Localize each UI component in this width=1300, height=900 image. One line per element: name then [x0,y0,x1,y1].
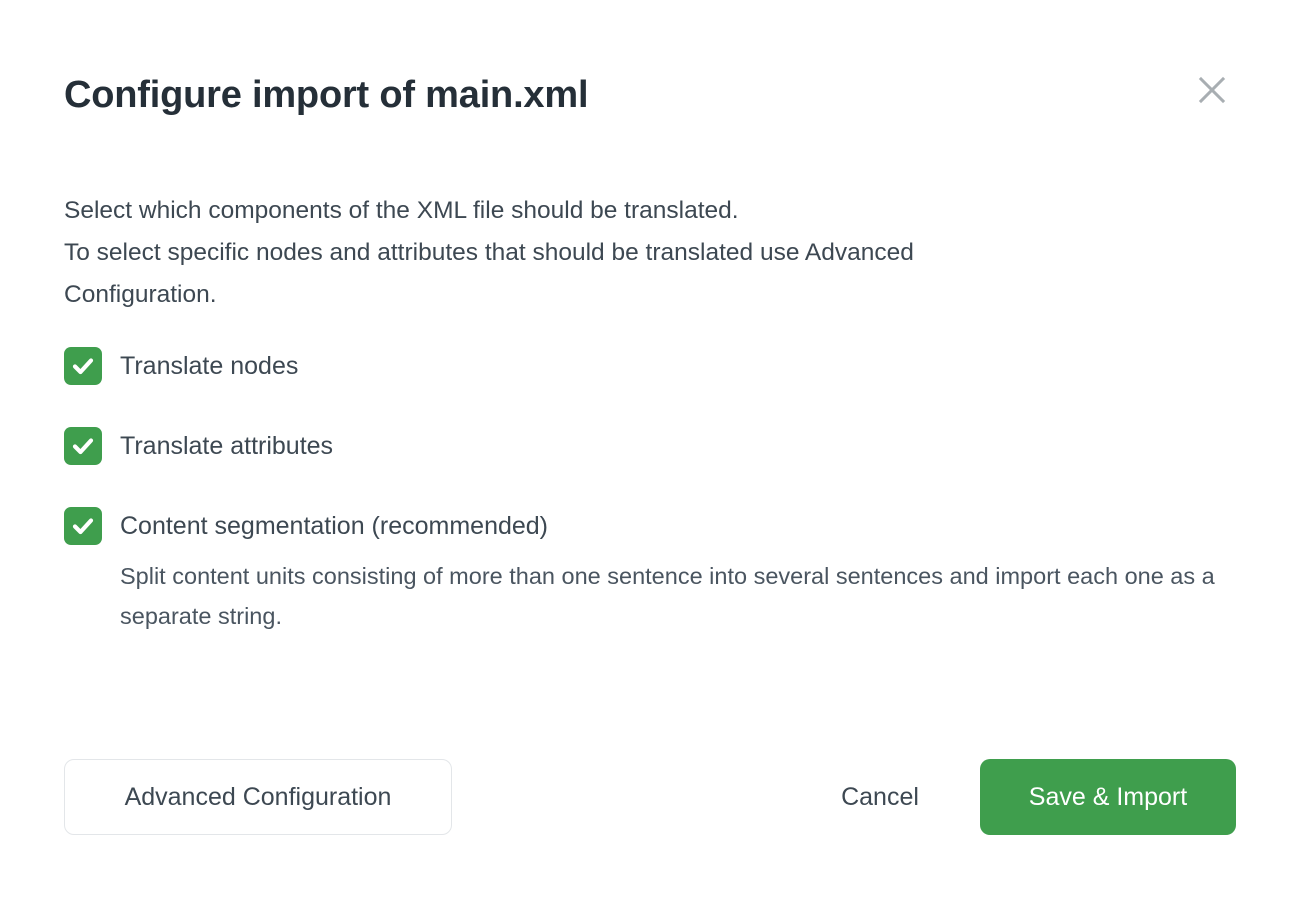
page-title: Configure import of main.xml [64,68,588,122]
check-icon [70,353,96,379]
option-label-translate-nodes[interactable]: Translate nodes [120,343,298,389]
advanced-configuration-button[interactable]: Advanced Configuration [64,759,452,835]
close-icon [1197,75,1227,105]
description-line-2: To select specific nodes and attributes … [64,232,1104,274]
description-line-1: Select which components of the XML file … [64,190,1104,232]
option-help-content-segmentation: Split content units consisting of more t… [64,507,1244,636]
dialog-description: Select which components of the XML file … [64,190,1104,316]
dialog-footer: Advanced Configuration Cancel Save & Imp… [0,759,1300,835]
save-and-import-button[interactable]: Save & Import [980,759,1236,835]
checkbox-translate-nodes[interactable] [64,347,102,385]
check-icon [70,433,96,459]
option-translate-nodes: Translate nodes [64,347,1244,427]
option-label-translate-attributes[interactable]: Translate attributes [120,423,333,469]
configure-import-dialog: Configure import of main.xml Select whic… [0,0,1300,900]
cancel-button[interactable]: Cancel [800,759,960,835]
option-content-segmentation: Content segmentation (recommended) Split… [64,507,1244,636]
option-translate-attributes: Translate attributes [64,427,1244,507]
options-list: Translate nodes Translate attributes [64,347,1244,636]
close-button[interactable] [1192,70,1232,110]
dialog-header: Configure import of main.xml [0,0,1300,160]
checkbox-translate-attributes[interactable] [64,427,102,465]
description-line-3: Configuration. [64,274,1104,316]
